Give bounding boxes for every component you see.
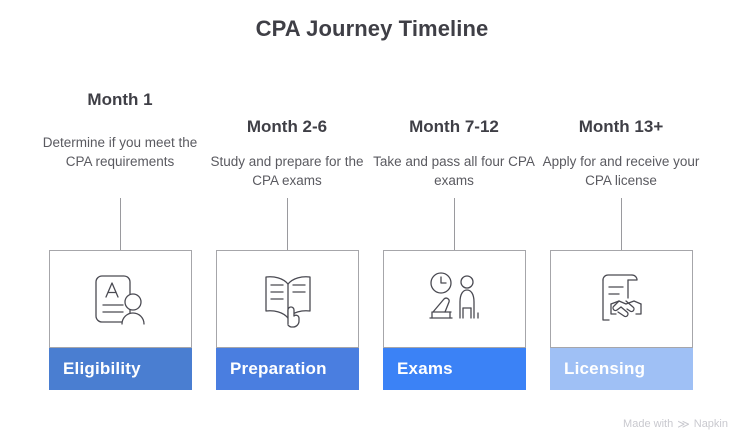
card-label-bar: Licensing: [550, 348, 693, 390]
step-description: Determine if you meet the CPA requiremen…: [33, 133, 207, 171]
card-label-text: Preparation: [230, 359, 327, 379]
step-card[interactable]: Preparation: [216, 250, 359, 390]
card-icon-area: [550, 250, 693, 348]
timeline-step-4: Month 13+ Apply for and receive your CPA…: [526, 0, 716, 442]
step-card[interactable]: Licensing: [550, 250, 693, 390]
step-month-label: Month 7-12: [359, 117, 549, 137]
card-label-bar: Eligibility: [49, 348, 192, 390]
card-icon-area: [216, 250, 359, 348]
card-icon-area: [49, 250, 192, 348]
connector-line: [621, 198, 622, 250]
card-label-bar: Preparation: [216, 348, 359, 390]
card-label-text: Exams: [397, 359, 453, 379]
connector-line: [287, 198, 288, 250]
step-month-label: Month 1: [25, 90, 215, 110]
card-label-text: Eligibility: [63, 359, 141, 379]
timeline-step-3: Month 7-12 Take and pass all four CPA ex…: [359, 0, 549, 442]
watermark-prefix: Made with: [623, 418, 673, 430]
watermark-brand: Napkin: [694, 418, 728, 430]
step-card[interactable]: Eligibility: [49, 250, 192, 390]
timeline-step-2: Month 2-6 Study and prepare for the CPA …: [192, 0, 382, 442]
napkin-logo-icon: ≫: [677, 418, 690, 430]
card-label-text: Licensing: [564, 359, 645, 379]
step-card[interactable]: Exams: [383, 250, 526, 390]
step-month-label: Month 2-6: [192, 117, 382, 137]
connector-line: [454, 198, 455, 250]
connector-line: [120, 198, 121, 250]
card-label-bar: Exams: [383, 348, 526, 390]
step-description: Study and prepare for the CPA exams: [200, 152, 374, 190]
timeline-page: CPA Journey Timeline Month 1 Determine i…: [0, 0, 744, 442]
clock-desk-proctor-icon: [422, 266, 488, 332]
open-book-hand-icon: [255, 266, 321, 332]
step-description: Apply for and receive your CPA license: [534, 152, 708, 190]
certificate-handshake-icon: [589, 266, 655, 332]
card-icon-area: [383, 250, 526, 348]
step-month-label: Month 13+: [526, 117, 716, 137]
id-card-person-icon: [88, 266, 154, 332]
napkin-watermark: Made with ≫ Napkin: [623, 418, 728, 430]
timeline-step-1: Month 1 Determine if you meet the CPA re…: [25, 0, 215, 442]
step-description: Take and pass all four CPA exams: [367, 152, 541, 190]
